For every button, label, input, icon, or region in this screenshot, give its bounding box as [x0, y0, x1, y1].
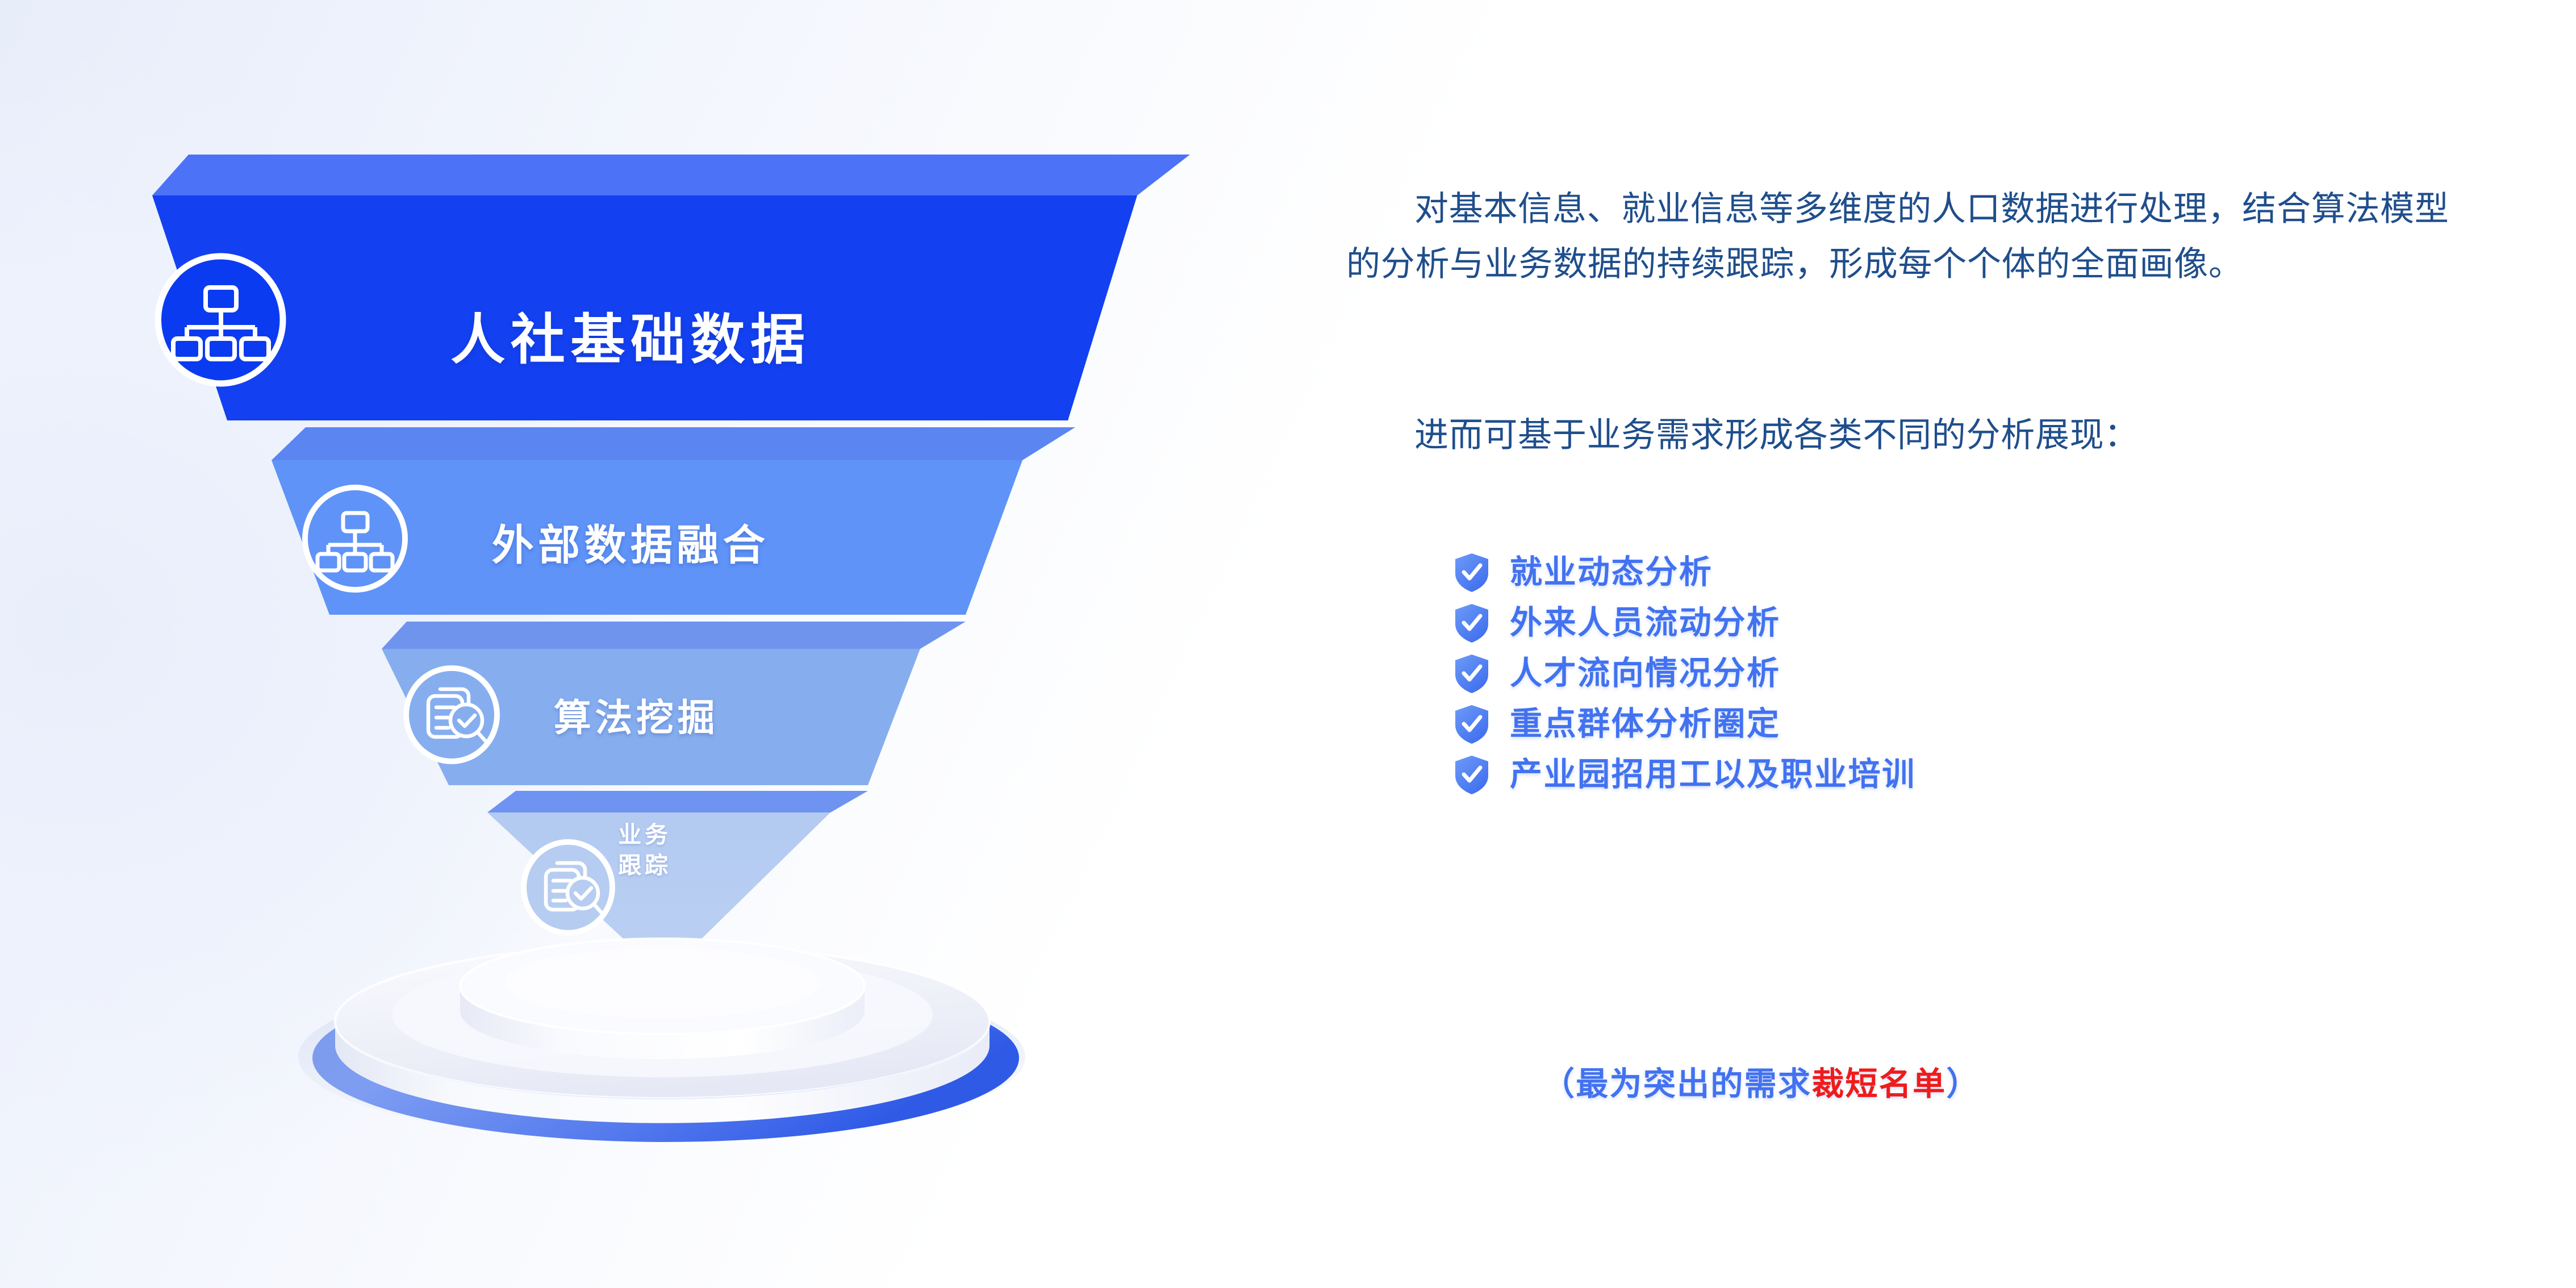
- funnel-level-1[interactable]: [152, 155, 1190, 420]
- description-panel: 对基本信息、就业信息等多维度的人口数据进行处理，结合算法模型的分析与业务数据的持…: [1324, 0, 2576, 1288]
- list-item[interactable]: 人才流向情况分析: [1454, 648, 2533, 699]
- funnel-level-4-top-face: [487, 791, 868, 812]
- shield-check-icon: [1454, 553, 1489, 593]
- paragraph-overview: 对基本信息、就业信息等多维度的人口数据进行处理，结合算法模型的分析与业务数据的持…: [1346, 182, 2462, 292]
- funnel-icon-badge-1[interactable]: [158, 256, 283, 384]
- shield-check-icon: [1454, 603, 1489, 643]
- list-item-label: 重点群体分析圈定: [1510, 708, 1781, 740]
- shield-check-icon: [1454, 654, 1489, 694]
- note-prefix: （最为突出的需求: [1542, 1065, 1811, 1103]
- list-item-label: 外来人员流动分析: [1510, 607, 1781, 639]
- funnel-base-podium: [298, 939, 1025, 1142]
- funnel-graphic: [0, 0, 1306, 1288]
- list-item[interactable]: 重点群体分析圈定: [1454, 699, 2533, 749]
- note-highlight: 裁短名单: [1811, 1065, 1946, 1103]
- list-item[interactable]: 产业园招用工以及职业培训: [1454, 749, 2533, 800]
- slide-canvas: 人社基础数据 外部数据融合 算法挖掘 业务跟踪 对基本信息、就业信息等多维度的人…: [0, 0, 2576, 1288]
- shield-check-icon: [1454, 755, 1489, 795]
- funnel-level-1-top-face: [152, 155, 1190, 195]
- funnel-icon-badge-4[interactable]: [524, 842, 612, 933]
- list-item[interactable]: 就业动态分析: [1454, 547, 2533, 598]
- note-line: （最为突出的需求裁短名单）: [1542, 1058, 1980, 1104]
- funnel-level-1-body: [152, 195, 1137, 420]
- shield-check-icon: [1454, 705, 1489, 744]
- list-item[interactable]: 外来人员流动分析: [1454, 598, 2533, 648]
- funnel-diagram: 人社基础数据 外部数据融合 算法挖掘 业务跟踪: [0, 0, 1306, 1288]
- paragraph-lead-in: 进而可基于业务需求形成各类不同的分析展现：: [1346, 408, 2462, 463]
- list-item-label: 人才流向情况分析: [1510, 657, 1781, 690]
- funnel-icon-badge-3[interactable]: [406, 668, 497, 761]
- funnel-level-2-top-face: [272, 427, 1075, 460]
- funnel-level-3-top-face: [382, 622, 966, 649]
- list-item-label: 就业动态分析: [1510, 556, 1713, 589]
- analysis-checklist: 就业动态分析 外来人员流动分析 人才流向情况分析: [1454, 547, 2533, 800]
- funnel-icon-badge-2[interactable]: [305, 487, 405, 590]
- list-item-label: 产业园招用工以及职业培训: [1510, 758, 1916, 791]
- note-suffix: ）: [1946, 1065, 1980, 1103]
